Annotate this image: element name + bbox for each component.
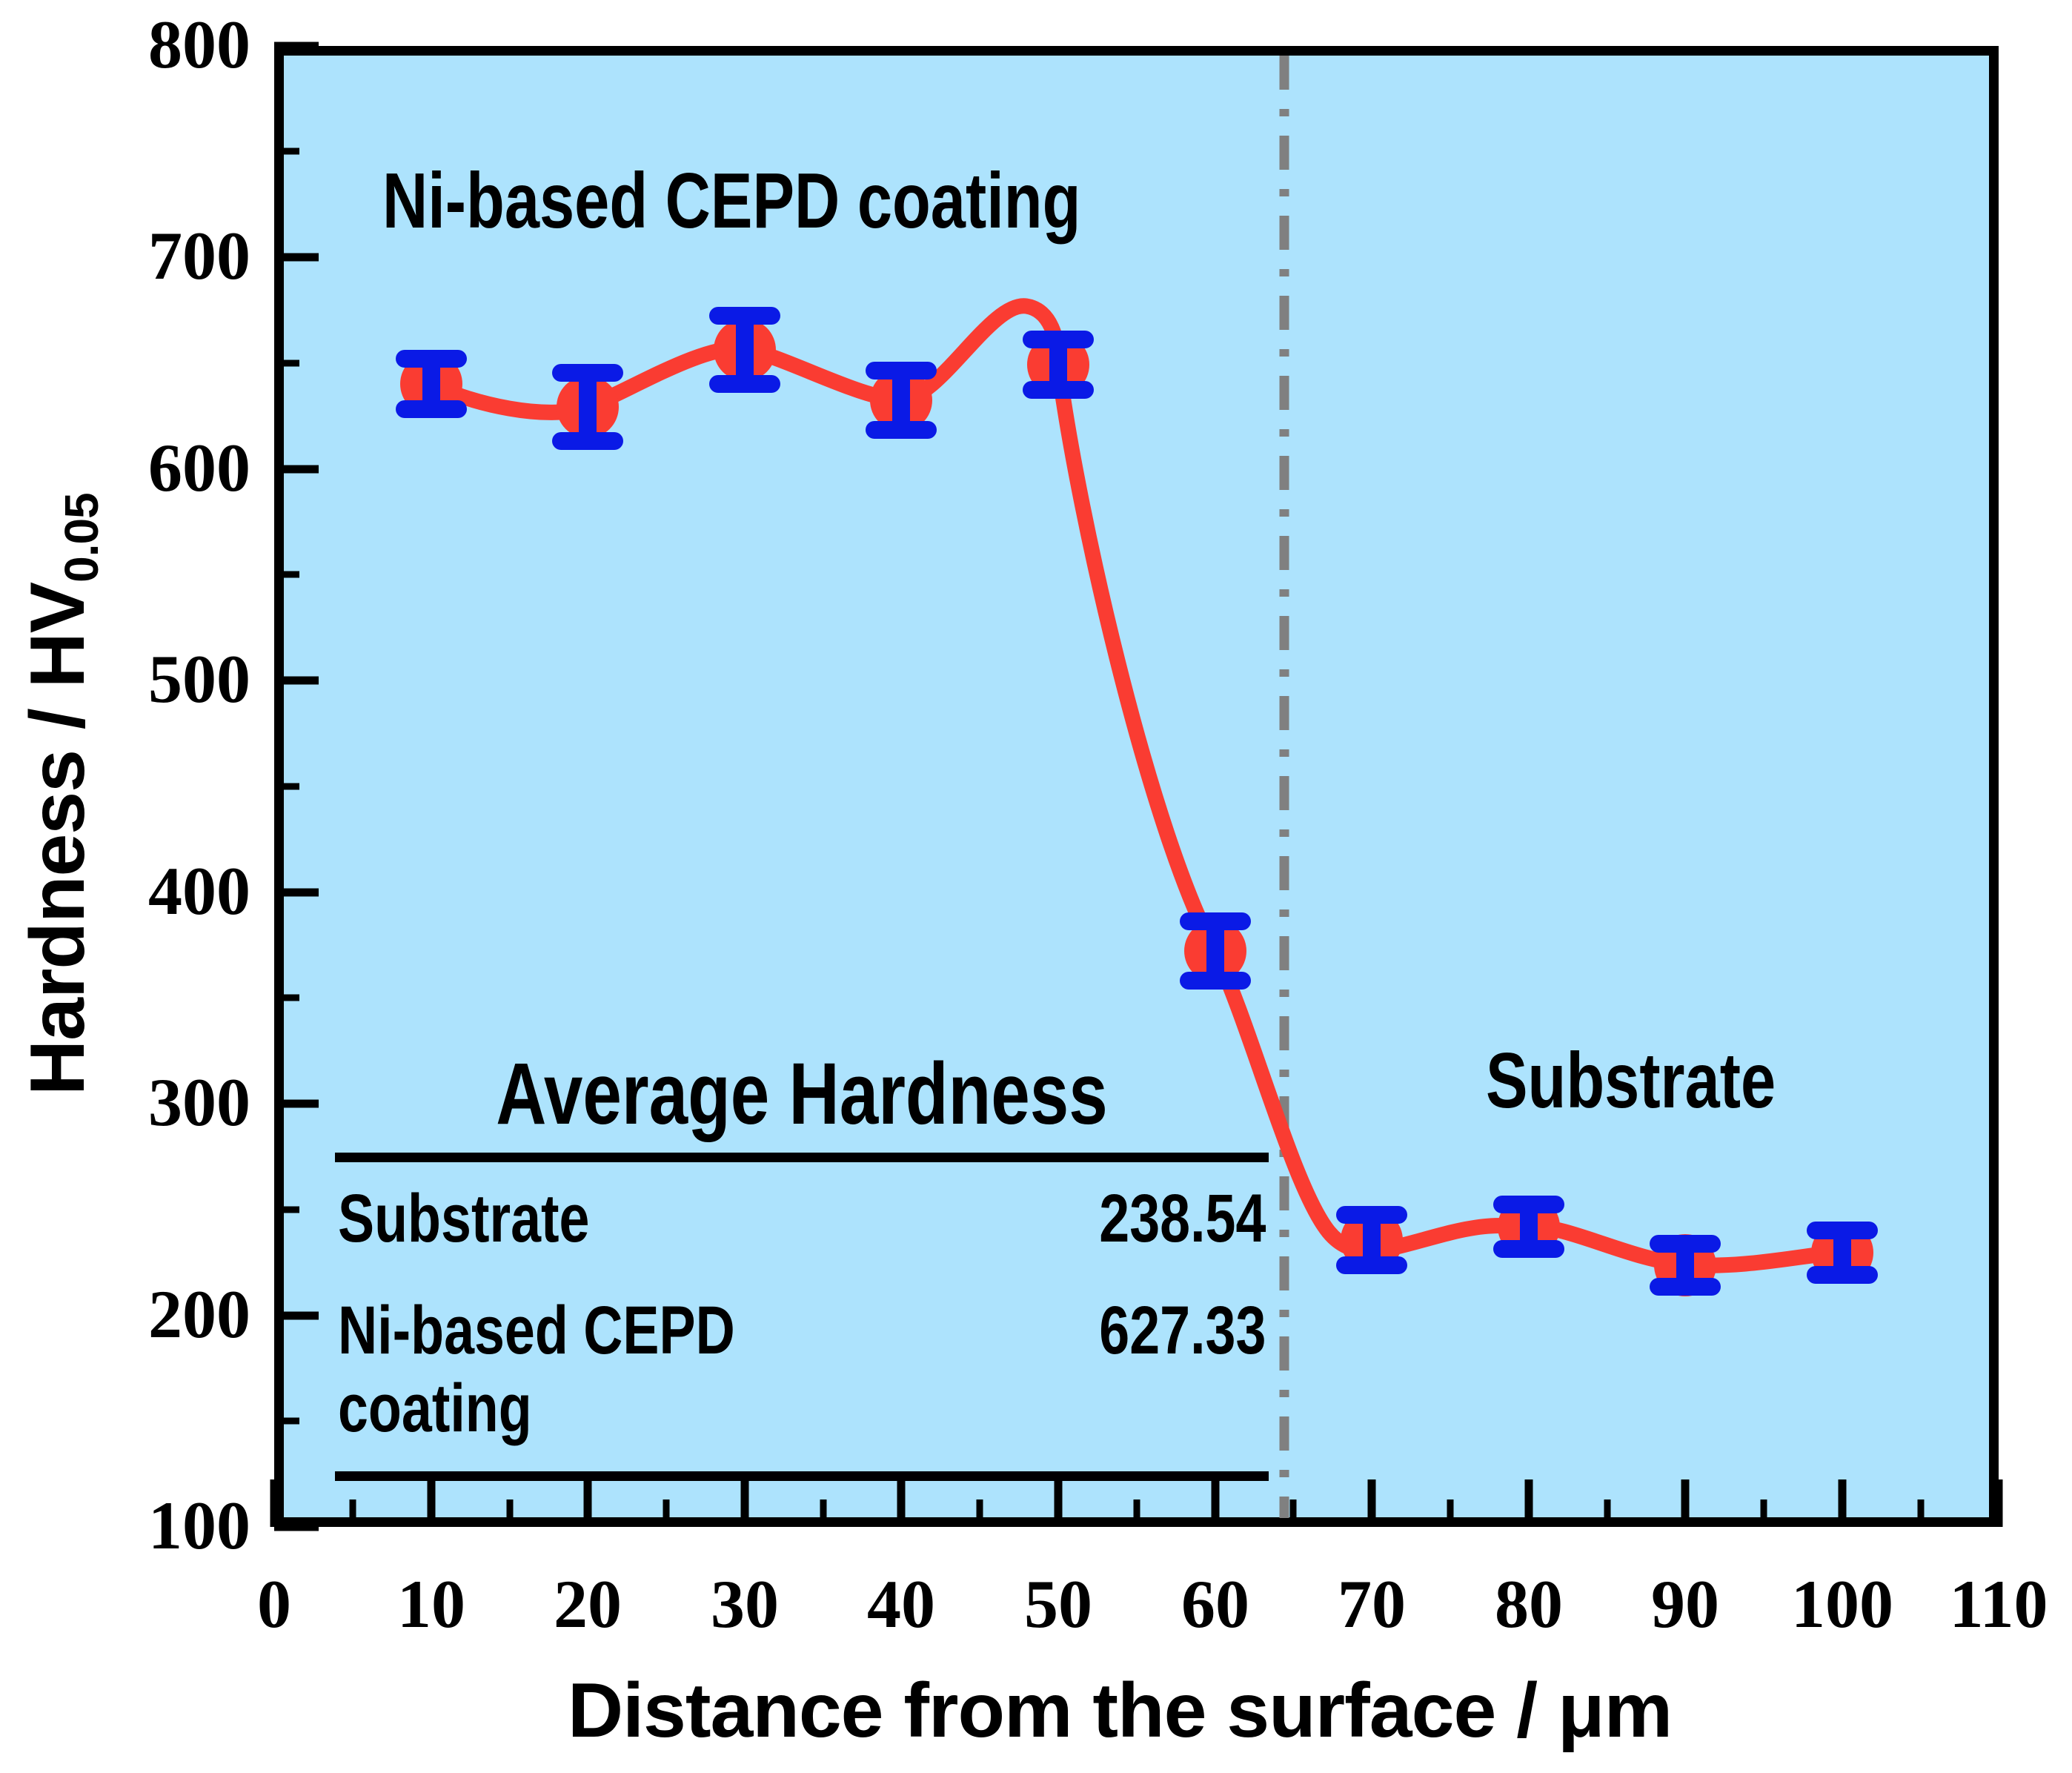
table-cell-value: 627.33 <box>1099 1292 1266 1370</box>
data-point <box>1184 920 1246 982</box>
table-rule-top <box>335 1153 1269 1162</box>
chart-canvas <box>0 0 2072 1773</box>
table-cell-value: 238.54 <box>1099 1180 1266 1258</box>
table-rule-bottom <box>335 1471 1269 1481</box>
coating-region-label: Ni-based CEPD coating <box>382 162 1080 240</box>
x-tick-label-10: 10 <box>342 1570 520 1638</box>
x-tick-label-50: 50 <box>969 1570 1147 1638</box>
x-tick-label-80: 80 <box>1440 1570 1618 1638</box>
table-row: Ni-based CEPD coating 627.33 <box>335 1274 1269 1464</box>
x-tick-label-100: 100 <box>1753 1570 1931 1638</box>
substrate-region-label: Substrate <box>1486 1041 1776 1120</box>
y-axis-title: Hardness / HV0.05 <box>19 493 105 1096</box>
data-point <box>400 353 462 415</box>
y-tick-label-800: 800 <box>52 10 250 79</box>
data-point <box>1341 1209 1403 1271</box>
average-hardness-title: Average Hardness <box>428 1049 1175 1141</box>
x-tick-label-40: 40 <box>812 1570 990 1638</box>
table-cell-label: Ni-based CEPD coating <box>338 1292 913 1448</box>
table-cell-label: Substrate <box>338 1180 589 1258</box>
hardness-depth-profile-chart: 800 700 600 500 400 300 200 100 0 10 20 … <box>0 0 2072 1773</box>
x-tick-label-30: 30 <box>656 1570 834 1638</box>
table-row: Substrate 238.54 <box>335 1162 1269 1274</box>
y-axis-title-main: Hardness / HV <box>15 583 101 1096</box>
x-tick-label-70: 70 <box>1283 1570 1461 1638</box>
x-tick-label-0: 0 <box>185 1570 363 1638</box>
y-tick-label-700: 700 <box>52 222 250 290</box>
data-point <box>1027 334 1089 396</box>
y-tick-label-600: 600 <box>52 434 250 502</box>
y-axis-title-subscript: 0.05 <box>55 493 108 583</box>
x-tick-label-20: 20 <box>499 1570 677 1638</box>
x-tick-label-110: 110 <box>1910 1570 2072 1638</box>
data-point <box>1811 1222 1873 1284</box>
y-tick-label-200: 200 <box>52 1280 250 1348</box>
x-tick-label-60: 60 <box>1126 1570 1304 1638</box>
data-point <box>1654 1234 1716 1296</box>
data-point <box>870 369 932 431</box>
x-axis-title: Distance from the surface / μm <box>568 1672 1672 1749</box>
data-point <box>1498 1196 1560 1258</box>
y-axis-minor-ticks <box>274 151 299 1421</box>
data-point <box>557 373 619 441</box>
average-hardness-table: Average Hardness Substrate 238.54 Ni-bas… <box>335 1049 1269 1481</box>
data-point <box>714 316 776 384</box>
y-tick-label-100: 100 <box>52 1491 250 1560</box>
x-tick-label-90: 90 <box>1596 1570 1774 1638</box>
